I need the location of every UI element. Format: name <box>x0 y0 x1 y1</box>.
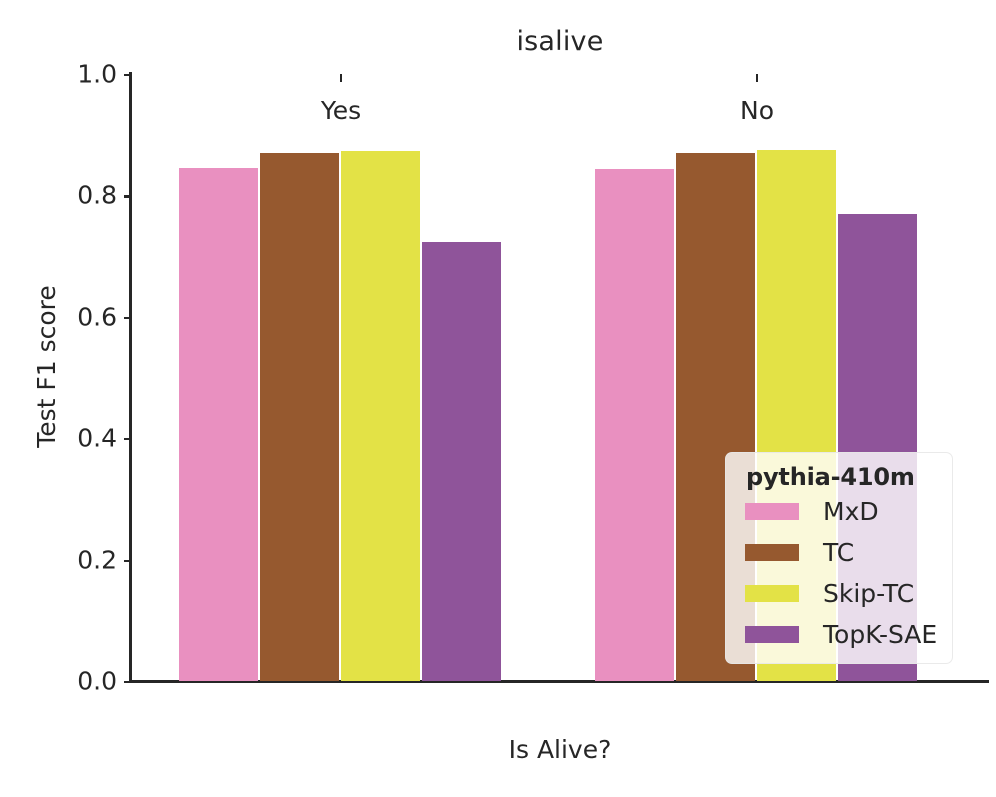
y-tick-mark <box>124 317 131 319</box>
legend: pythia-410m MxDTCSkip-TCTopK-SAE <box>725 452 953 664</box>
y-tick-label: 0.8 <box>77 181 117 210</box>
legend-swatch <box>745 503 799 520</box>
x-tick-label: No <box>740 96 774 125</box>
legend-item-label: TC <box>823 538 854 567</box>
legend-title: pythia-410m <box>726 463 952 491</box>
legend-item-label: Skip-TC <box>823 579 914 608</box>
legend-swatch <box>745 544 799 561</box>
legend-entries: MxDTCSkip-TCTopK-SAE <box>726 491 952 655</box>
legend-swatch <box>745 585 799 602</box>
x-axis-label: Is Alive? <box>131 735 989 764</box>
bar <box>422 242 501 681</box>
legend-item-label: TopK-SAE <box>823 620 937 649</box>
legend-item[interactable]: TopK-SAE <box>726 614 952 655</box>
x-tick-mark <box>756 74 758 82</box>
bar <box>260 153 339 681</box>
bar <box>341 151 420 681</box>
legend-item[interactable]: MxD <box>726 491 952 532</box>
x-tick-label: Yes <box>321 96 361 125</box>
y-tick-mark <box>124 438 131 440</box>
legend-item-label: MxD <box>823 497 879 526</box>
x-tick-mark <box>340 74 342 82</box>
y-tick-label: 0.0 <box>77 667 117 696</box>
bar-chart-figure: isalive 0.00.20.40.60.81.0 YesNo Test F1… <box>0 0 996 797</box>
bar <box>179 168 258 681</box>
legend-item[interactable]: Skip-TC <box>726 573 952 614</box>
page-title: isalive <box>131 26 989 57</box>
y-tick-mark <box>124 681 131 683</box>
y-tick-mark <box>124 560 131 562</box>
legend-item[interactable]: TC <box>726 532 952 573</box>
y-tick-mark <box>124 74 131 76</box>
y-tick-label: 0.6 <box>77 302 117 331</box>
bar <box>595 169 674 681</box>
y-axis-label: Test F1 score <box>32 63 61 670</box>
y-tick-label: 1.0 <box>77 60 117 89</box>
y-tick-mark <box>124 195 131 197</box>
y-tick-label: 0.2 <box>77 545 117 574</box>
y-tick-label: 0.4 <box>77 424 117 453</box>
legend-swatch <box>745 626 799 643</box>
